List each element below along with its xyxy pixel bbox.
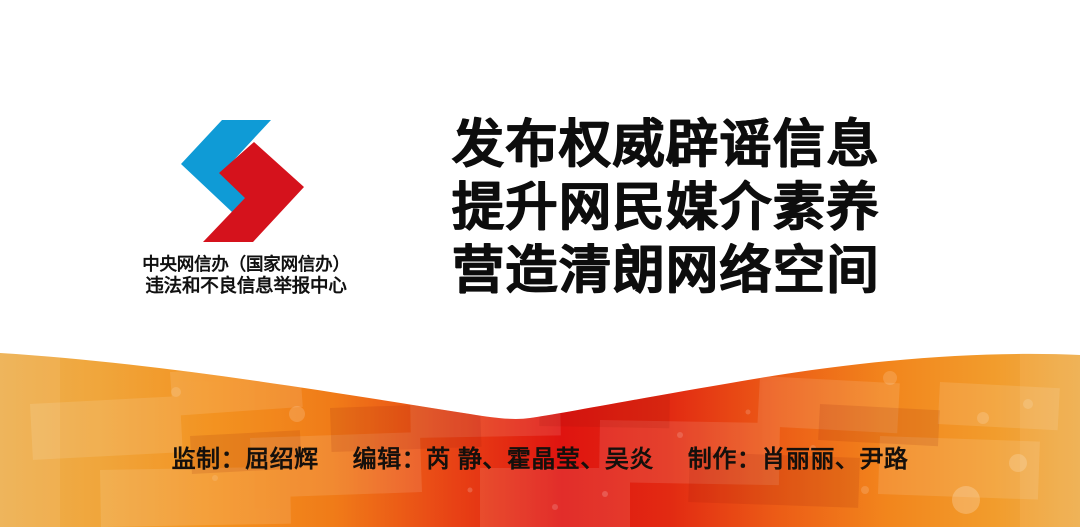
headline-block: 发布权威辟谣信息 提升网民媒介素养 营造清朗网络空间 [452, 114, 952, 303]
headline-line-2: 提升网民媒介素养 [452, 177, 952, 240]
headline-line-3: 营造清朗网络空间 [452, 240, 952, 303]
poster-root: 中央网信办（国家网信办） 违法和不良信息举报中心 发布权威辟谣信息 提升网民媒介… [0, 0, 1080, 527]
logo-caption-line-1: 中央网信办（国家网信办） [96, 254, 396, 275]
headline-line-1: 发布权威辟谣信息 [452, 114, 952, 177]
designer-value: 肖丽丽、尹路 [761, 446, 908, 473]
producer-value: 屈绍辉 [245, 446, 319, 473]
china-cyberspace-report-center-logo-icon [170, 118, 315, 246]
editor-value: 芮 静、霍晶莹、吴炎 [426, 446, 654, 473]
producer-label: 监制： [172, 446, 246, 473]
top-white-area: 中央网信办（国家网信办） 违法和不良信息举报中心 发布权威辟谣信息 提升网民媒介… [0, 0, 1080, 355]
credits-line: 监制：屈绍辉编辑：芮 静、霍晶莹、吴炎制作：肖丽丽、尹路 [0, 443, 1080, 477]
designer-label: 制作： [688, 446, 762, 473]
logo-caption: 中央网信办（国家网信办） 违法和不良信息举报中心 [96, 254, 396, 298]
logo-caption-line-2: 违法和不良信息举报中心 [96, 275, 396, 298]
editor-label: 编辑： [353, 446, 427, 473]
logo-block: 中央网信办（国家网信办） 违法和不良信息举报中心 [96, 118, 396, 318]
